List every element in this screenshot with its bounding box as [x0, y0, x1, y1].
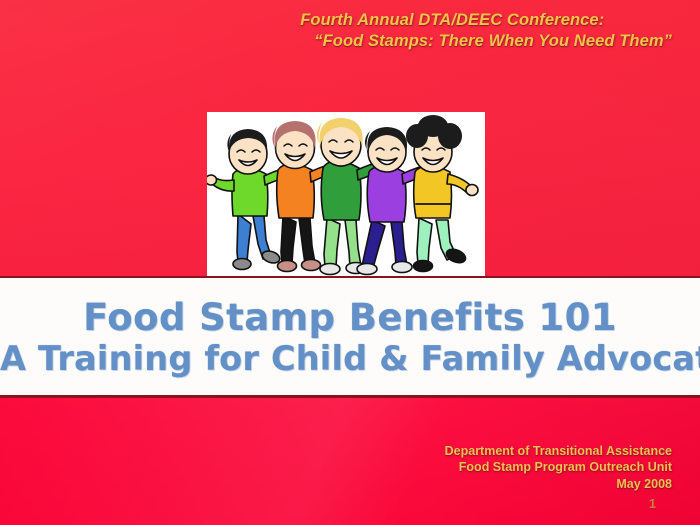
slide-title-line-1: Food Stamp Benefits 101	[0, 299, 700, 337]
presentation-slide: Fourth Annual DTA/DEEC Conference: “Food…	[0, 0, 700, 525]
children-clipart-image	[207, 112, 485, 278]
footer-line-unit: Food Stamp Program Outreach Unit	[445, 459, 672, 475]
title-band: Food Stamp Benefits 101 A Training for C…	[0, 276, 700, 398]
footer-credits: Department of Transitional Assistance Fo…	[445, 443, 672, 492]
conference-header-line-1: Fourth Annual DTA/DEEC Conference:	[300, 10, 672, 31]
footer-line-date: May 2008	[445, 476, 672, 492]
conference-header: Fourth Annual DTA/DEEC Conference: “Food…	[300, 10, 672, 52]
footer-line-department: Department of Transitional Assistance	[445, 443, 672, 459]
slide-subtitle-line-2: A Training for Child & Family Advocates	[0, 341, 700, 376]
five-children-illustration	[207, 112, 485, 278]
conference-header-line-2: “Food Stamps: There When You Need Them”	[300, 31, 672, 52]
slide-number: 1	[649, 497, 656, 511]
